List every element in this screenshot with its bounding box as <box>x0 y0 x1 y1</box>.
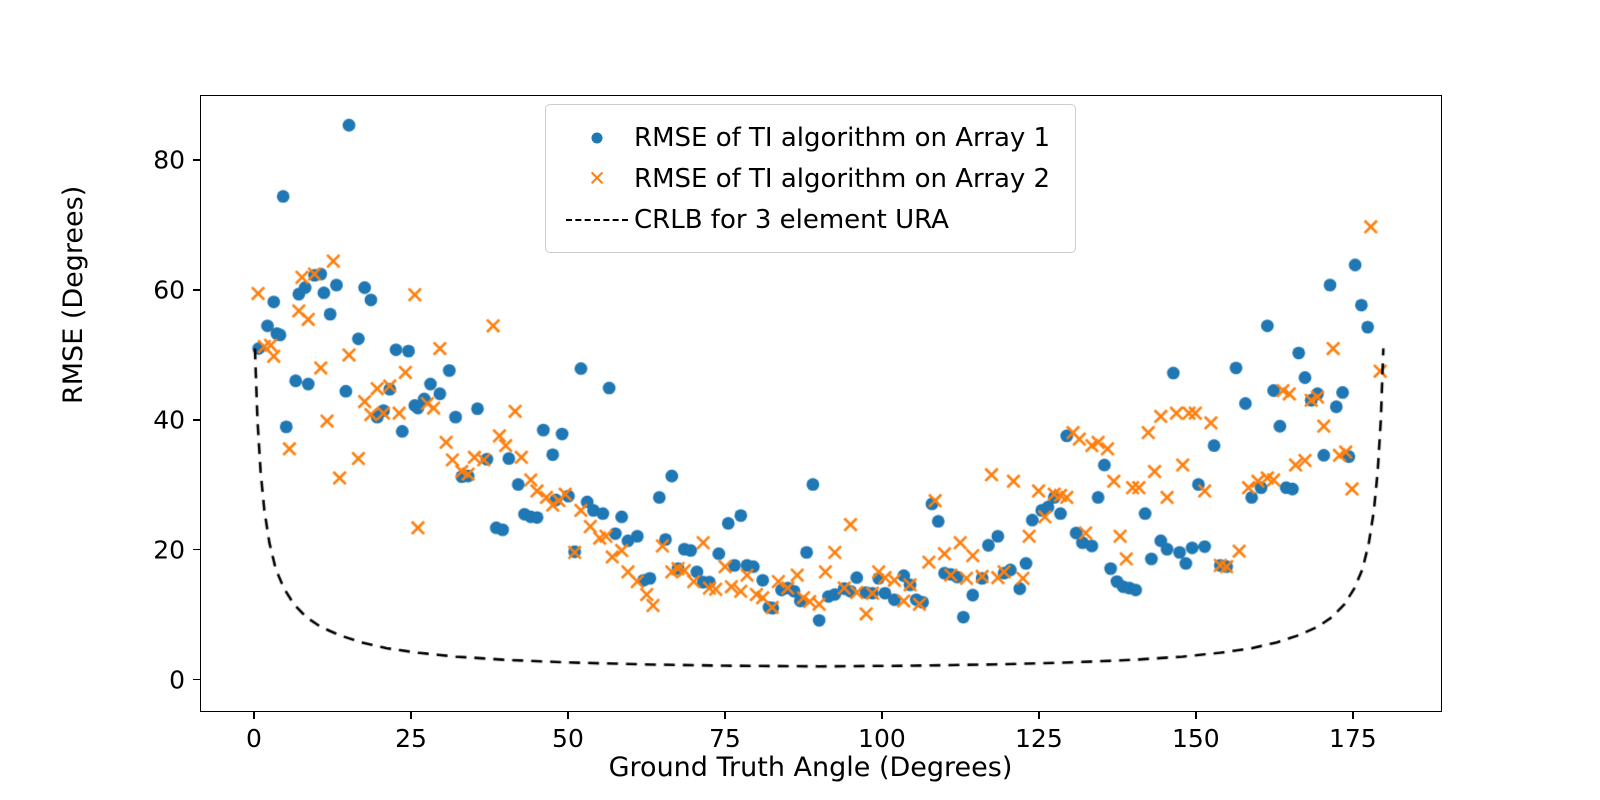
x-tick-mark <box>1352 712 1354 719</box>
x-tick-label: 75 <box>709 724 741 753</box>
y-tick-label: 80 <box>95 145 185 174</box>
y-tick-label: 40 <box>95 405 185 434</box>
x-tick-mark <box>724 712 726 719</box>
legend-item-array1: RMSE of TI algorithm on Array 1 <box>560 117 1059 158</box>
legend-label-array1: RMSE of TI algorithm on Array 1 <box>634 123 1050 153</box>
legend-item-array2: ✕ RMSE of TI algorithm on Array 2 <box>560 158 1059 199</box>
x-tick-mark <box>567 712 569 719</box>
legend-label-array2: RMSE of TI algorithm on Array 2 <box>634 164 1050 194</box>
y-tick-mark <box>193 679 200 681</box>
x-tick-mark <box>410 712 412 719</box>
cross-marker-icon: ✕ <box>560 158 634 199</box>
y-tick-label: 0 <box>95 665 185 694</box>
x-tick-mark <box>1038 712 1040 719</box>
x-tick-label: 100 <box>858 724 906 753</box>
y-axis-title-text: RMSE (Degrees) <box>58 186 89 404</box>
circle-marker-icon <box>560 117 634 158</box>
x-tick-label: 150 <box>1172 724 1220 753</box>
figure-canvas: 020406080 0255075100125150175 Ground Tru… <box>0 0 1600 800</box>
legend-item-crlb: CRLB for 3 element URA <box>560 199 1059 240</box>
y-axis-title: RMSE (Degrees) <box>58 186 89 404</box>
x-tick-label: 25 <box>395 724 427 753</box>
x-tick-mark <box>1195 712 1197 719</box>
y-tick-mark <box>193 549 200 551</box>
y-tick-mark <box>193 289 200 291</box>
y-tick-mark <box>193 419 200 421</box>
y-tick-label: 60 <box>95 275 185 304</box>
x-tick-label: 175 <box>1329 724 1377 753</box>
y-tick-mark <box>193 159 200 161</box>
legend-label-crlb: CRLB for 3 element URA <box>634 205 949 235</box>
y-tick-label: 20 <box>95 535 185 564</box>
x-axis-title-text: Ground Truth Angle (Degrees) <box>609 752 1013 783</box>
x-tick-label: 50 <box>552 724 584 753</box>
x-tick-label: 125 <box>1015 724 1063 753</box>
legend-box: RMSE of TI algorithm on Array 1 ✕ RMSE o… <box>545 104 1076 253</box>
x-tick-mark <box>881 712 883 719</box>
x-tick-label: 0 <box>246 724 262 753</box>
dashed-line-marker-icon <box>560 199 634 240</box>
x-tick-mark <box>253 712 255 719</box>
x-axis-title: Ground Truth Angle (Degrees) <box>0 752 1600 783</box>
